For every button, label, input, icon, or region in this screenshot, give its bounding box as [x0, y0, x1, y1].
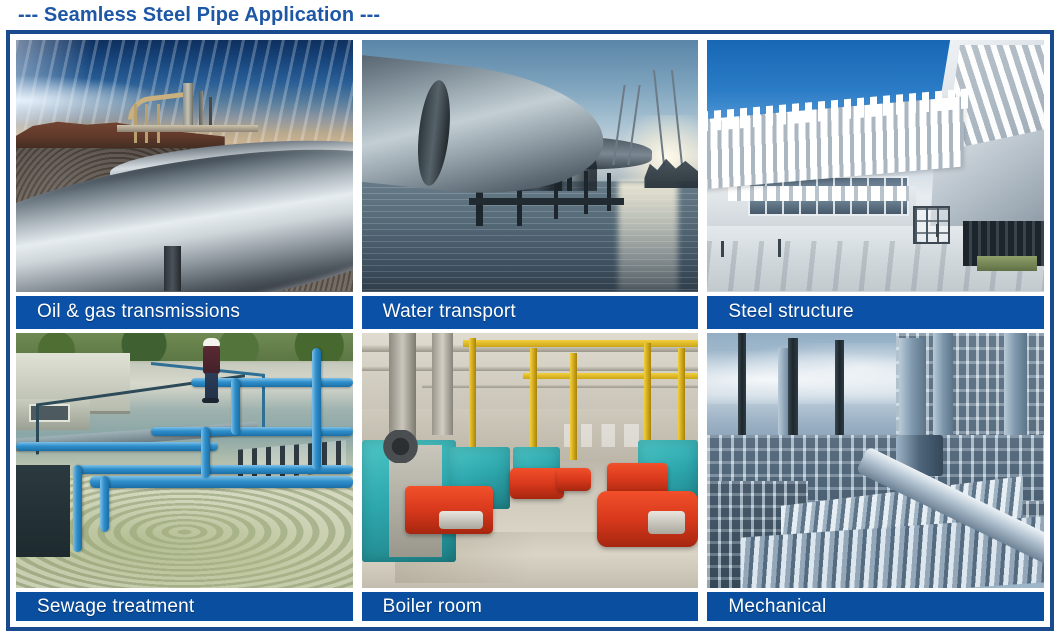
plant-worker — [201, 338, 227, 435]
pedestrian — [778, 239, 781, 257]
plant-leg — [157, 104, 160, 143]
plant-leg — [145, 104, 148, 143]
pedestrian — [936, 224, 939, 237]
gas-header — [523, 373, 698, 379]
gallery-item-steel-structure[interactable]: Steel structure — [707, 40, 1044, 329]
photo-boiler-room — [362, 333, 699, 589]
worker-torso — [203, 346, 220, 374]
blue-pipe — [16, 442, 218, 451]
trestle-leg — [584, 171, 588, 214]
plant-deck — [117, 125, 258, 132]
caption-water-transport: Water transport — [362, 296, 699, 329]
pedestrian — [721, 241, 724, 257]
burner-fan — [372, 430, 429, 463]
gallery-grid: Oil & gas transmissions — [16, 40, 1044, 621]
trestle-beam — [469, 198, 624, 204]
blue-pipe — [90, 476, 353, 488]
basin-baffles — [238, 440, 346, 480]
gas-header — [463, 340, 699, 347]
photo-oil-gas-transmissions — [16, 40, 353, 292]
photo-steel-structure — [707, 40, 1044, 292]
blue-pipe — [151, 427, 353, 436]
trestle-leg — [607, 173, 610, 211]
gallery-frame: Oil & gas transmissions — [6, 30, 1054, 631]
plant-tower — [199, 91, 203, 128]
flue-stack — [432, 333, 452, 435]
gas-plant — [117, 83, 258, 153]
entry-gate — [913, 206, 950, 244]
worker-shoes — [202, 398, 219, 403]
hard-hat — [203, 338, 220, 346]
gas-pipe — [570, 353, 577, 460]
caption-oil-gas-transmissions: Oil & gas transmissions — [16, 296, 353, 329]
blue-pipe-riser — [100, 476, 109, 532]
gallery-item-oil-gas-transmissions[interactable]: Oil & gas transmissions — [16, 40, 353, 329]
burner-nozzle — [648, 511, 685, 534]
exhaust-stack — [738, 333, 747, 435]
burner-unit — [557, 468, 591, 491]
caption-sewage-treatment: Sewage treatment — [16, 592, 353, 621]
flue-stack — [389, 333, 416, 445]
caption-mechanical: Mechanical — [707, 592, 1044, 621]
page-title: --- Seamless Steel Pipe Application --- — [18, 1, 380, 29]
blue-pipe-riser — [312, 348, 321, 471]
column-grid — [728, 186, 910, 201]
caption-boiler-room: Boiler room — [362, 592, 699, 621]
dark-channel — [16, 465, 70, 557]
photo-sewage-treatment — [16, 333, 353, 589]
photo-water-transport — [362, 40, 699, 292]
gallery-item-sewage-treatment[interactable]: Sewage treatment — [16, 333, 353, 622]
gallery-item-boiler-room[interactable]: Boiler room — [362, 333, 699, 622]
burner-nozzle — [439, 511, 483, 529]
gallery-item-mechanical[interactable]: Mechanical — [707, 333, 1044, 622]
blue-pipe — [77, 465, 353, 474]
caption-steel-structure: Steel structure — [707, 296, 1044, 329]
burner-unit — [510, 468, 564, 499]
blue-pipe-riser — [73, 465, 82, 552]
plant-leg — [134, 104, 137, 143]
planting-bed — [977, 256, 1038, 271]
gallery-item-water-transport[interactable]: Water transport — [362, 40, 699, 329]
overhead-duct — [422, 384, 698, 388]
blue-pipe-riser — [201, 427, 210, 478]
worker-legs — [205, 373, 218, 399]
exhaust-stack — [835, 340, 844, 437]
pipe-support — [164, 246, 181, 291]
exhaust-stack — [788, 338, 798, 440]
blue-pipe-riser — [231, 378, 240, 434]
photo-mechanical — [707, 333, 1044, 589]
plant-tower — [183, 83, 193, 127]
sun-reflection — [618, 181, 679, 292]
application-gallery-page: --- Seamless Steel Pipe Application --- — [0, 0, 1060, 633]
